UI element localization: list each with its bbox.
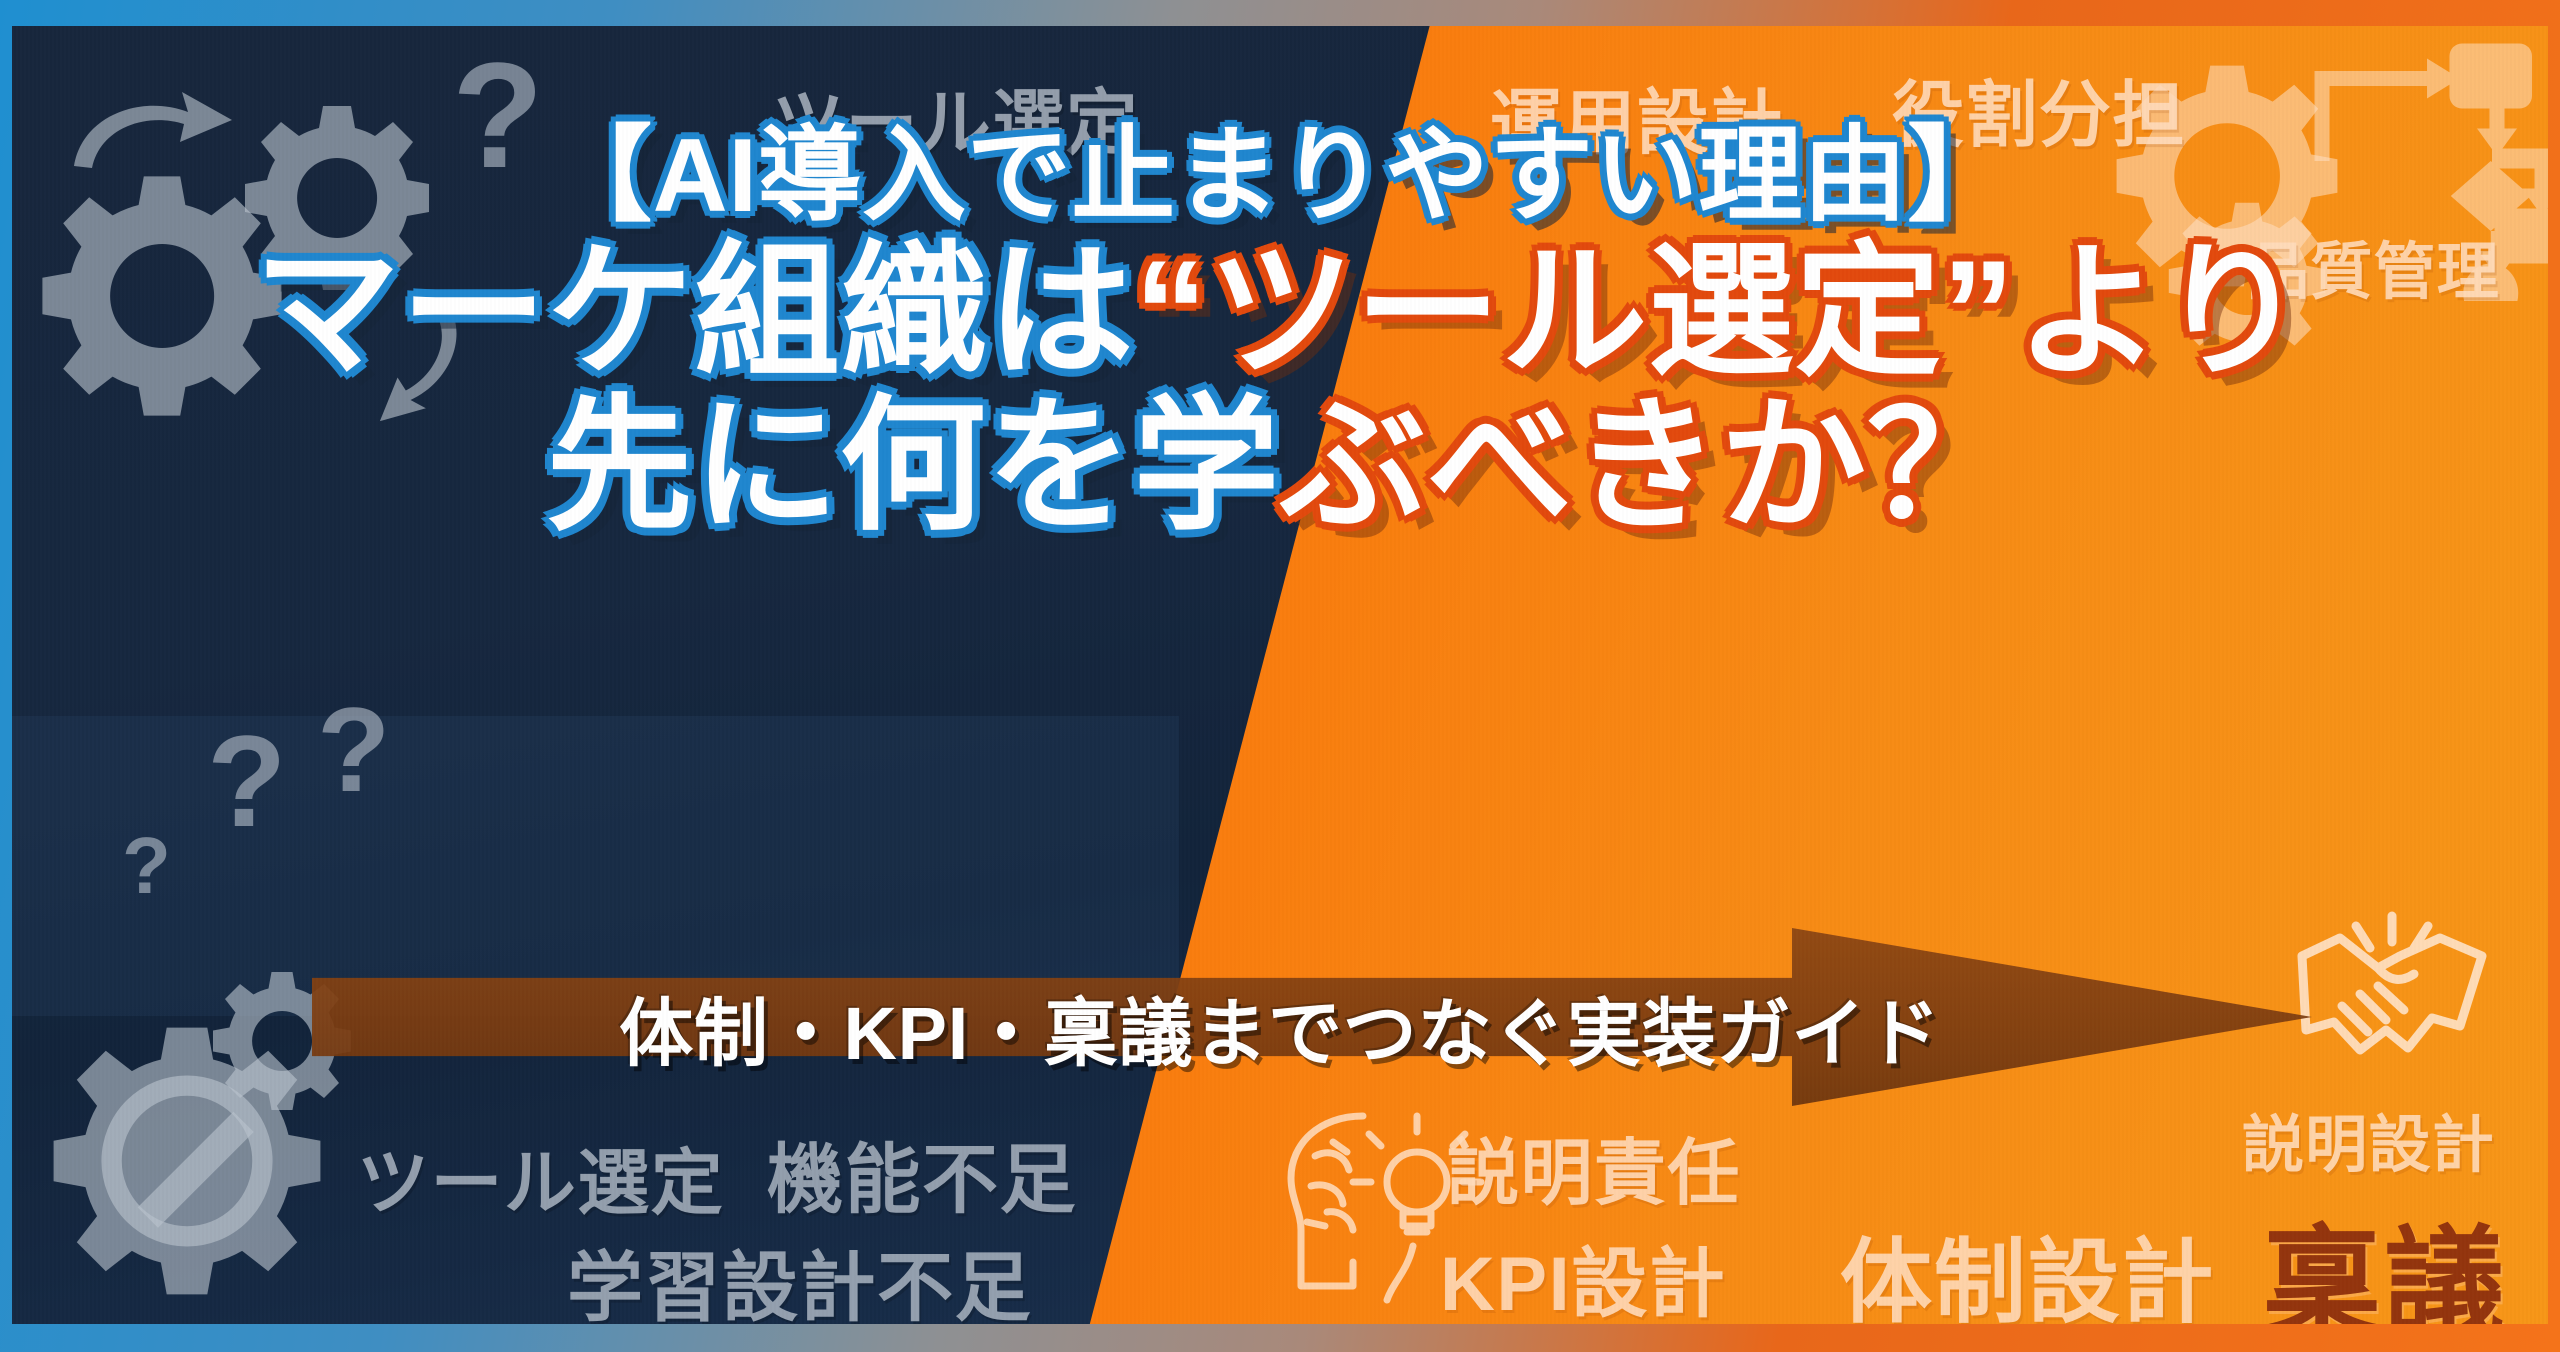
thumbnail-canvas: ? ? ? ?	[0, 0, 2560, 1352]
texture-overlay	[12, 26, 2548, 1324]
inner-panel: ? ? ? ?	[12, 26, 2548, 1324]
